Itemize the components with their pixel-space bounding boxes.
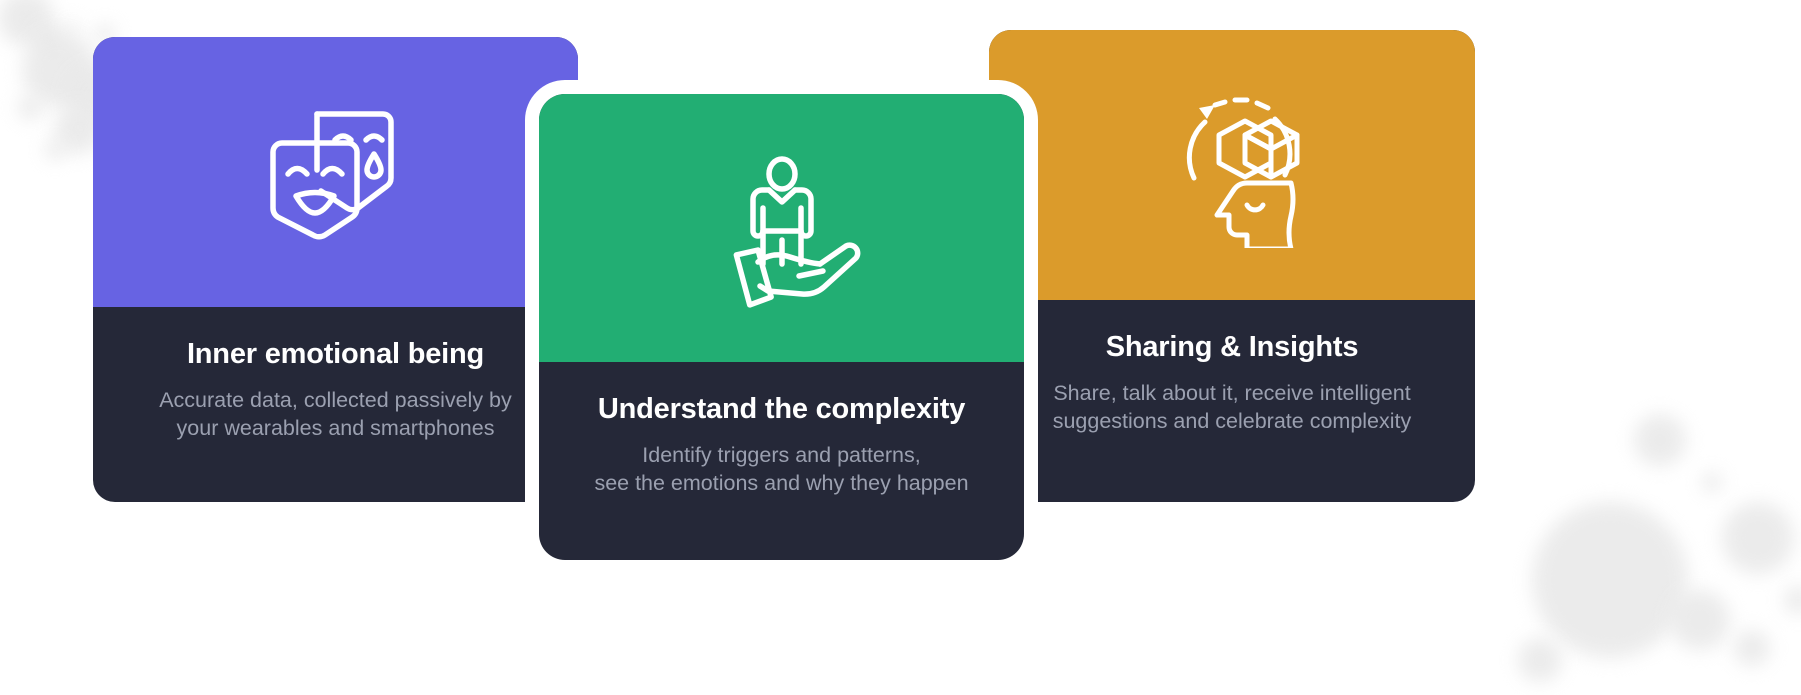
card-media-sharing-insights	[989, 30, 1475, 300]
feature-card-understand-the-complexity[interactable]: Understand the complexity Identify trigg…	[539, 94, 1024, 560]
card-title: Inner emotional being	[129, 337, 542, 372]
hand-holding-person-icon	[692, 148, 872, 308]
feature-card-deck: Inner emotional being Accurate data, col…	[0, 0, 1801, 695]
card-body-sharing-insights: Sharing & Insights Share, talk about it,…	[989, 300, 1475, 502]
feature-card-inner-emotional-being[interactable]: Inner emotional being Accurate data, col…	[93, 37, 578, 502]
theatre-masks-icon	[251, 92, 421, 252]
card-description: Identify triggers and patterns, see the …	[575, 441, 988, 498]
feature-card-sharing-insights[interactable]: Sharing & Insights Share, talk about it,…	[989, 30, 1475, 502]
card-body-inner-emotional-being: Inner emotional being Accurate data, col…	[93, 307, 578, 502]
card-body-understand-the-complexity: Understand the complexity Identify trigg…	[539, 362, 1024, 560]
card-title: Understand the complexity	[575, 392, 988, 427]
head-cube-insight-icon	[1147, 83, 1317, 248]
card-media-understand-the-complexity	[539, 94, 1024, 362]
card-title: Sharing & Insights	[1025, 330, 1439, 365]
card-description: Share, talk about it, receive intelligen…	[1025, 379, 1439, 436]
card-media-inner-emotional-being	[93, 37, 578, 307]
card-description: Accurate data, collected passively by yo…	[129, 386, 542, 443]
